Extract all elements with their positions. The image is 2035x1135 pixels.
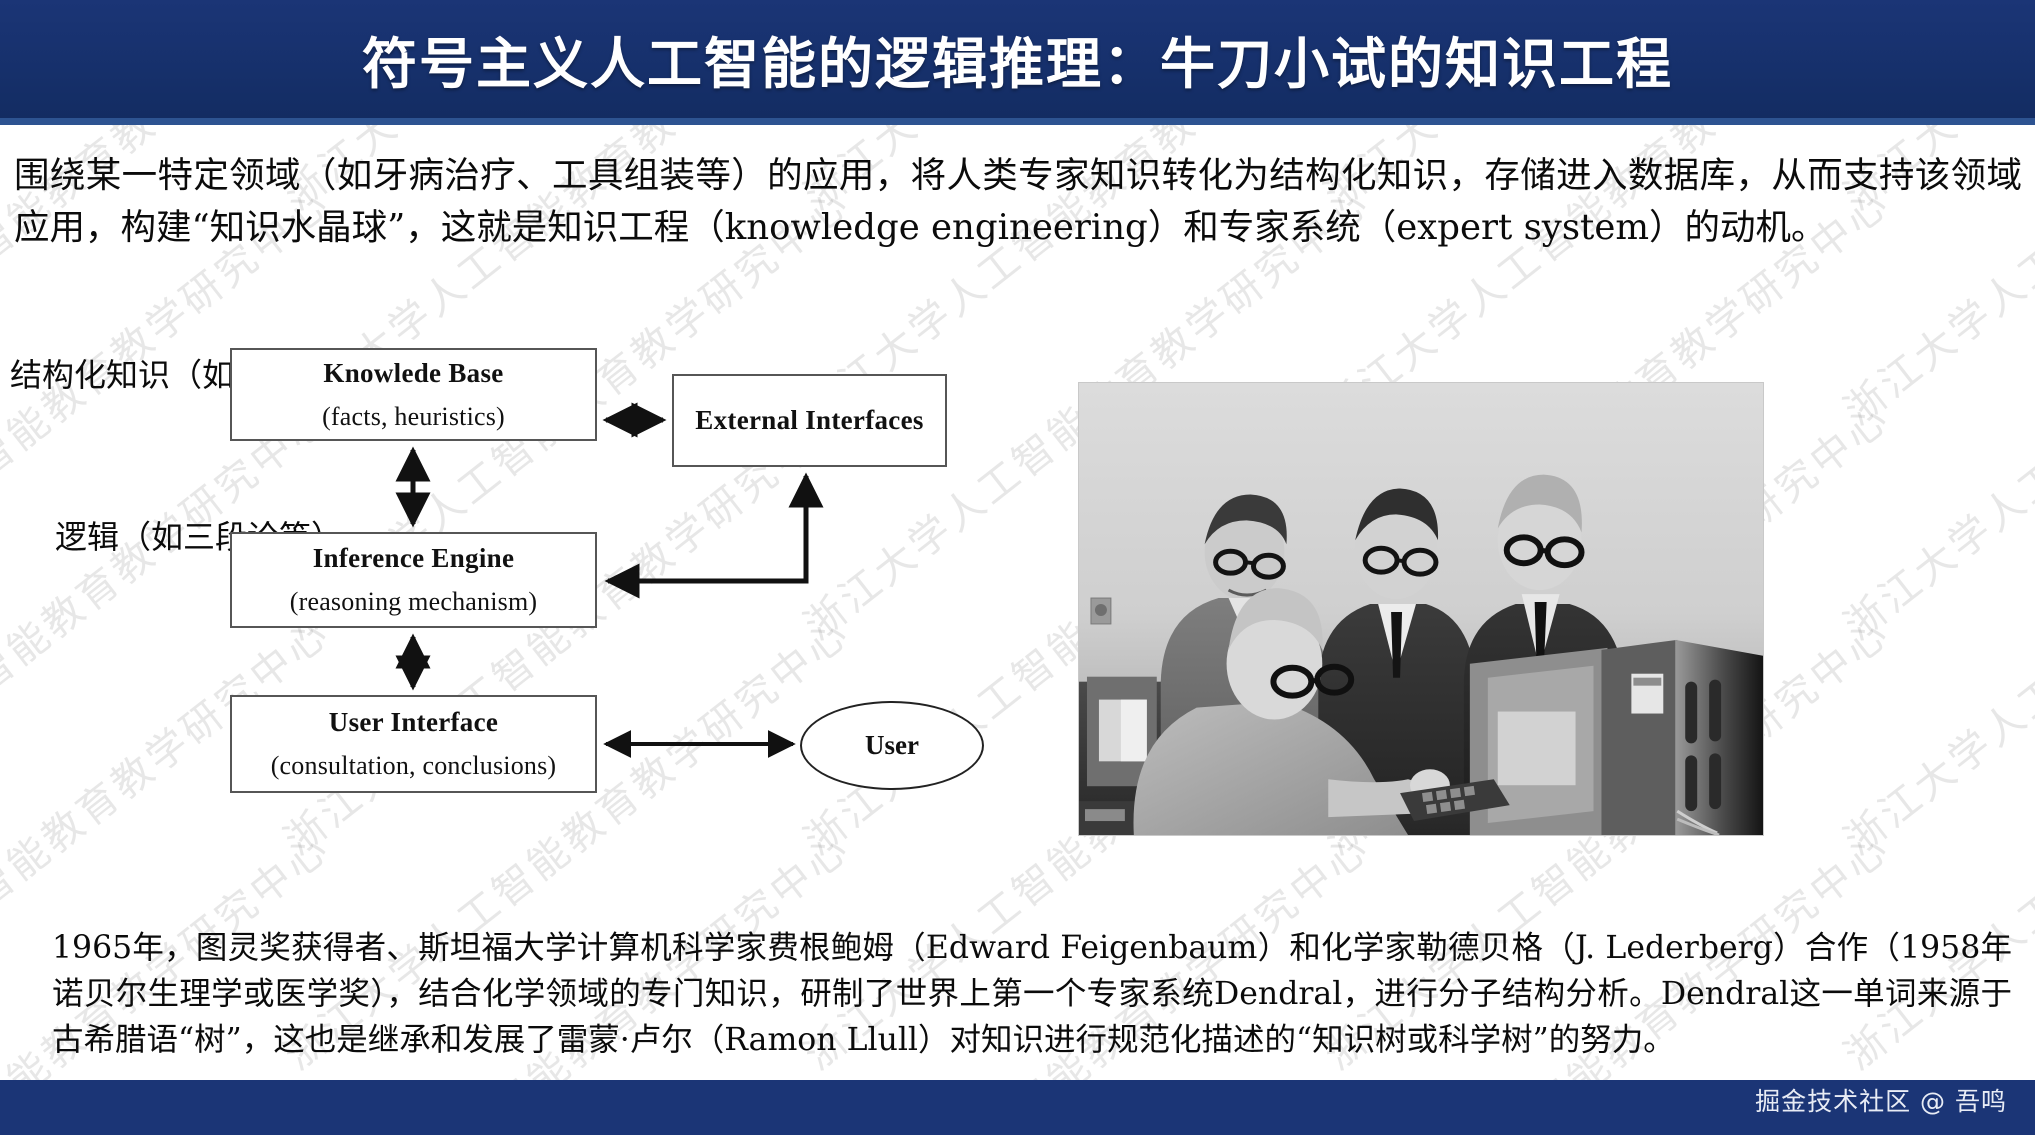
diagram-box-user-interface: User Interface (consultation, conclusion… bbox=[230, 695, 597, 793]
connector-external-inference bbox=[608, 476, 806, 581]
box-subtitle: (reasoning mechanism) bbox=[290, 587, 538, 617]
diagram-node-user: User bbox=[800, 701, 984, 790]
box-subtitle: (facts, heuristics) bbox=[322, 402, 505, 432]
box-title: User Interface bbox=[329, 707, 498, 738]
intro-paragraph: 围绕某一特定领域（如牙病治疗、工具组装等）的应用，将人类专家知识转化为结构化知识… bbox=[14, 150, 2022, 254]
historical-photo bbox=[1078, 382, 1764, 836]
page-title: 符号主义人工智能的逻辑推理：牛刀小试的知识工程 bbox=[0, 0, 2035, 118]
watermark-text: 浙江大学人工智能教育教学研究中心 bbox=[1830, 387, 2035, 866]
bottom-paragraph: 1965年，图灵奖获得者、斯坦福大学计算机科学家费根鲍姆（Edward Feig… bbox=[52, 925, 2012, 1063]
box-title: External Interfaces bbox=[695, 405, 923, 436]
user-node-label: User bbox=[865, 730, 919, 761]
footer-credit: 掘金技术社区 @ 吾鸣 bbox=[1755, 1082, 2007, 1118]
diagram-box-inference-engine: Inference Engine (reasoning mechanism) bbox=[230, 532, 597, 628]
diagram-box-external-interfaces: External Interfaces bbox=[672, 374, 947, 467]
header-underline bbox=[0, 118, 2035, 125]
expert-system-diagram: Knowlede Base (facts, heuristics) Extern… bbox=[0, 300, 1040, 860]
box-subtitle: (consultation, conclusions) bbox=[271, 751, 557, 781]
photo-illustration bbox=[1079, 383, 1763, 835]
box-title: Knowlede Base bbox=[323, 358, 503, 389]
diagram-box-knowledge-base: Knowlede Base (facts, heuristics) bbox=[230, 348, 597, 441]
footer-bar bbox=[0, 1080, 2035, 1135]
box-title: Inference Engine bbox=[313, 543, 515, 574]
